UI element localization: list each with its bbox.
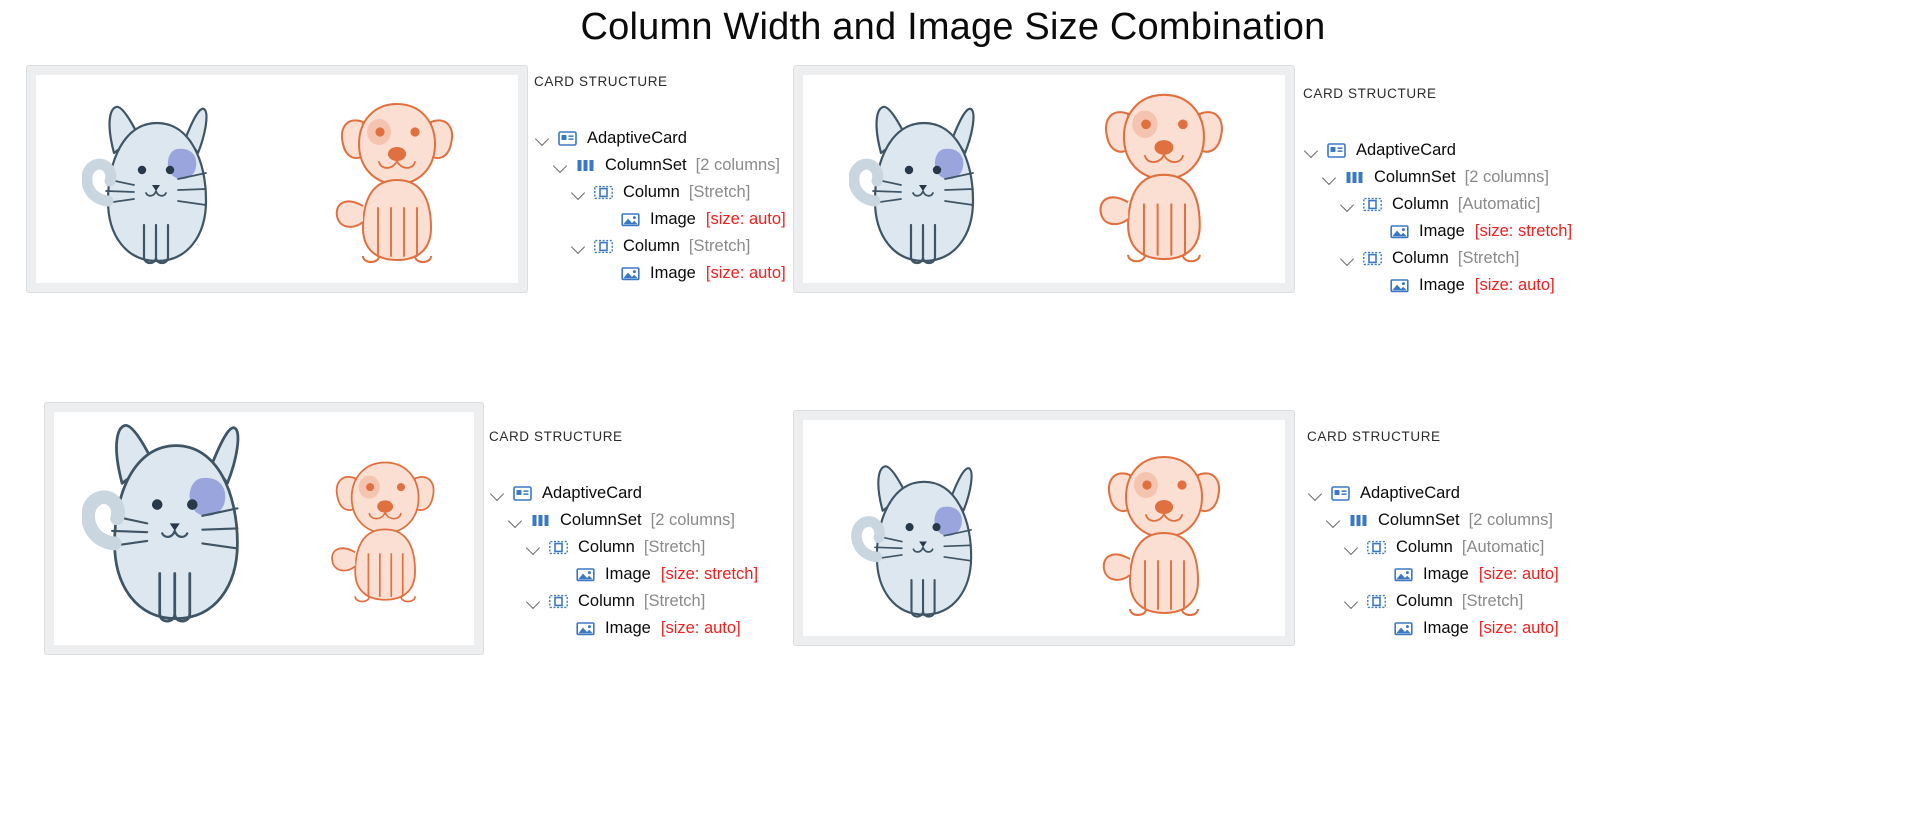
card-structure-bottom-right: CARD STRUCTURE AdaptiveCardColumnSet[2 c…: [1307, 429, 1559, 642]
card-column-1: [803, 75, 1044, 283]
tree-spacer: [597, 265, 614, 282]
card-body: [803, 420, 1285, 636]
tree-node-label: ColumnSet: [1374, 168, 1456, 187]
tree-node-label: AdaptiveCard: [542, 484, 642, 503]
chevron-down-icon[interactable]: [525, 593, 542, 610]
chevron-down-icon[interactable]: [1339, 196, 1356, 213]
structure-heading: CARD STRUCTURE: [534, 74, 786, 89]
tree-node-label: ColumnSet: [560, 511, 642, 530]
tree-node-meta: [2 columns]: [651, 511, 735, 530]
image-icon: [1394, 620, 1414, 637]
structure-heading: CARD STRUCTURE: [1307, 429, 1559, 444]
tree-row[interactable]: Column[Stretch]: [489, 534, 758, 561]
structure-heading: CARD STRUCTURE: [489, 429, 758, 444]
tree-node-size: [size: auto]: [1479, 565, 1559, 584]
cat-illustration: [82, 412, 270, 645]
chevron-down-icon[interactable]: [570, 238, 587, 255]
tree-row[interactable]: Image[size: stretch]: [1303, 218, 1572, 245]
chevron-down-icon[interactable]: [525, 539, 542, 556]
tree-row[interactable]: Column[Automatic]: [1303, 191, 1572, 218]
image-icon: [1390, 277, 1410, 294]
chevron-down-icon[interactable]: [1339, 250, 1356, 267]
tree-spacer: [597, 211, 614, 228]
image-icon: [576, 620, 596, 637]
tree-rows: AdaptiveCardColumnSet[2 columns]Column[S…: [489, 480, 758, 642]
tree-node-size: [size: auto]: [706, 264, 786, 283]
tree-node-label: Image: [650, 210, 696, 229]
card-column-2: [1044, 75, 1285, 283]
tree-node-label: Image: [650, 264, 696, 283]
column-icon: [1367, 593, 1387, 610]
tree-node-label: Image: [1419, 222, 1465, 241]
tree-node-size: [size: auto]: [661, 619, 741, 638]
tree-row[interactable]: Image[size: auto]: [489, 615, 758, 642]
tree-node-label: AdaptiveCard: [1356, 141, 1456, 160]
tree-row[interactable]: Image[size: auto]: [1303, 272, 1572, 299]
structure-heading: CARD STRUCTURE: [1303, 86, 1572, 101]
tree-node-size: [size: auto]: [706, 210, 786, 229]
chevron-down-icon[interactable]: [1325, 512, 1342, 529]
adaptive-card-icon: [513, 485, 533, 502]
image-icon: [621, 211, 641, 228]
tree-node-meta: [Stretch]: [1462, 592, 1523, 611]
chevron-down-icon[interactable]: [1343, 539, 1360, 556]
tree-row[interactable]: Column[Stretch]: [1303, 245, 1572, 272]
chevron-down-icon[interactable]: [1343, 593, 1360, 610]
tree-node-label: ColumnSet: [1378, 511, 1460, 530]
column-icon: [549, 593, 569, 610]
card-preview-top-left: [26, 65, 528, 293]
card-column-2: [298, 412, 474, 645]
tree-node-label: Image: [1423, 565, 1469, 584]
card-body: [36, 75, 518, 283]
tree-node-label: Column: [1396, 592, 1453, 611]
tree-node-label: AdaptiveCard: [1360, 484, 1460, 503]
tree-node-size: [size: auto]: [1475, 276, 1555, 295]
tree-node-label: Column: [578, 592, 635, 611]
tree-node-label: Column: [1392, 195, 1449, 214]
dog-illustration: [1090, 441, 1240, 636]
tree-node-label: ColumnSet: [605, 156, 687, 175]
tree-node-label: Column: [623, 183, 680, 202]
tree-row[interactable]: AdaptiveCard: [1307, 480, 1559, 507]
tree-node-meta: [Automatic]: [1462, 538, 1545, 557]
column-set-icon: [1349, 512, 1369, 529]
column-set-icon: [576, 157, 596, 174]
column-icon: [594, 238, 614, 255]
tree-node-label: AdaptiveCard: [587, 129, 687, 148]
tree-row[interactable]: AdaptiveCard: [1303, 137, 1572, 164]
card-structure-top-right: CARD STRUCTURE AdaptiveCardColumnSet[2 c…: [1303, 86, 1572, 299]
chevron-down-icon[interactable]: [1307, 485, 1324, 502]
column-set-icon: [531, 512, 551, 529]
card-structure-top-left: CARD STRUCTURE AdaptiveCardColumnSet[2 c…: [534, 74, 786, 287]
tree-node-meta: [2 columns]: [1469, 511, 1553, 530]
chevron-down-icon[interactable]: [1321, 169, 1338, 186]
tree-row[interactable]: Image[size: stretch]: [489, 561, 758, 588]
cat-illustration: [849, 453, 999, 636]
tree-node-size: [size: stretch]: [1475, 222, 1572, 241]
column-icon: [594, 184, 614, 201]
adaptive-card-icon: [558, 130, 578, 147]
tree-spacer: [1370, 620, 1387, 637]
tree-node-label: Column: [623, 237, 680, 256]
image-icon: [1390, 223, 1410, 240]
tree-row[interactable]: AdaptiveCard: [489, 480, 758, 507]
tree-row[interactable]: ColumnSet[2 columns]: [1307, 507, 1559, 534]
tree-node-meta: [2 columns]: [696, 156, 780, 175]
adaptive-card-icon: [1327, 142, 1347, 159]
tree-node-meta: [Stretch]: [1458, 249, 1519, 268]
card-preview-bottom-left: [44, 402, 484, 655]
tree-row[interactable]: Column[Stretch]: [534, 179, 786, 206]
tree-node-label: Image: [605, 619, 651, 638]
cat-illustration: [849, 93, 999, 283]
tree-row[interactable]: Column[Automatic]: [1307, 534, 1559, 561]
card-column-1: [36, 75, 277, 283]
chevron-down-icon[interactable]: [1303, 142, 1320, 159]
tree-node-meta: [Stretch]: [689, 183, 750, 202]
image-icon: [1394, 566, 1414, 583]
chevron-down-icon[interactable]: [489, 485, 506, 502]
card-column-1: [803, 420, 1044, 636]
tree-node-meta: [2 columns]: [1465, 168, 1549, 187]
tree-row[interactable]: AdaptiveCard: [534, 125, 786, 152]
chevron-down-icon[interactable]: [534, 130, 551, 147]
tree-row[interactable]: Column[Stretch]: [534, 233, 786, 260]
chevron-down-icon[interactable]: [552, 157, 569, 174]
tree-node-meta: [Stretch]: [644, 538, 705, 557]
card-column-2: [1044, 420, 1285, 636]
cat-illustration: [82, 93, 232, 283]
card-preview-top-right: [793, 65, 1295, 293]
chevron-down-icon[interactable]: [570, 184, 587, 201]
chevron-down-icon[interactable]: [507, 512, 524, 529]
tree-node-label: Image: [1423, 619, 1469, 638]
tree-node-label: Column: [1392, 249, 1449, 268]
tree-row[interactable]: Column[Stretch]: [1307, 588, 1559, 615]
tree-node-label: Column: [578, 538, 635, 557]
page-title: Column Width and Image Size Combination: [0, 6, 1906, 49]
tree-spacer: [1366, 277, 1383, 294]
tree-spacer: [552, 566, 569, 583]
tree-node-size: [size: stretch]: [661, 565, 758, 584]
tree-node-meta: [Stretch]: [644, 592, 705, 611]
tree-spacer: [552, 620, 569, 637]
card-body: [54, 412, 474, 645]
tree-node-meta: [Stretch]: [689, 237, 750, 256]
card-structure-bottom-left: CARD STRUCTURE AdaptiveCardColumnSet[2 c…: [489, 429, 758, 642]
tree-node-label: Image: [1419, 276, 1465, 295]
tree-node-label: Image: [605, 565, 651, 584]
tree-spacer: [1370, 566, 1387, 583]
column-icon: [1363, 196, 1383, 213]
adaptive-card-icon: [1331, 485, 1351, 502]
tree-row[interactable]: ColumnSet[2 columns]: [1303, 164, 1572, 191]
image-icon: [576, 566, 596, 583]
column-icon: [549, 539, 569, 556]
tree-row[interactable]: ColumnSet[2 columns]: [489, 507, 758, 534]
image-icon: [621, 265, 641, 282]
tree-row[interactable]: Image[size: auto]: [1307, 615, 1559, 642]
card-column-2: [277, 75, 518, 283]
tree-row[interactable]: Image[size: auto]: [534, 206, 786, 233]
dog-illustration: [323, 88, 473, 283]
tree-row[interactable]: Image[size: auto]: [1307, 561, 1559, 588]
tree-node-size: [size: auto]: [1479, 619, 1559, 638]
dog-illustration: [1085, 78, 1245, 283]
tree-row[interactable]: Image[size: auto]: [534, 260, 786, 287]
card-body: [803, 75, 1285, 283]
column-icon: [1367, 539, 1387, 556]
tree-row[interactable]: Column[Stretch]: [489, 588, 758, 615]
tree-row[interactable]: ColumnSet[2 columns]: [534, 152, 786, 179]
dog-illustration: [320, 448, 452, 621]
tree-rows: AdaptiveCardColumnSet[2 columns]Column[A…: [1303, 137, 1572, 299]
card-column-1: [54, 412, 298, 645]
column-icon: [1363, 250, 1383, 267]
tree-spacer: [1366, 223, 1383, 240]
tree-node-meta: [Automatic]: [1458, 195, 1541, 214]
card-preview-bottom-right: [793, 410, 1295, 646]
column-set-icon: [1345, 169, 1365, 186]
tree-rows: AdaptiveCardColumnSet[2 columns]Column[A…: [1307, 480, 1559, 642]
tree-node-label: Column: [1396, 538, 1453, 557]
tree-rows: AdaptiveCardColumnSet[2 columns]Column[S…: [534, 125, 786, 287]
